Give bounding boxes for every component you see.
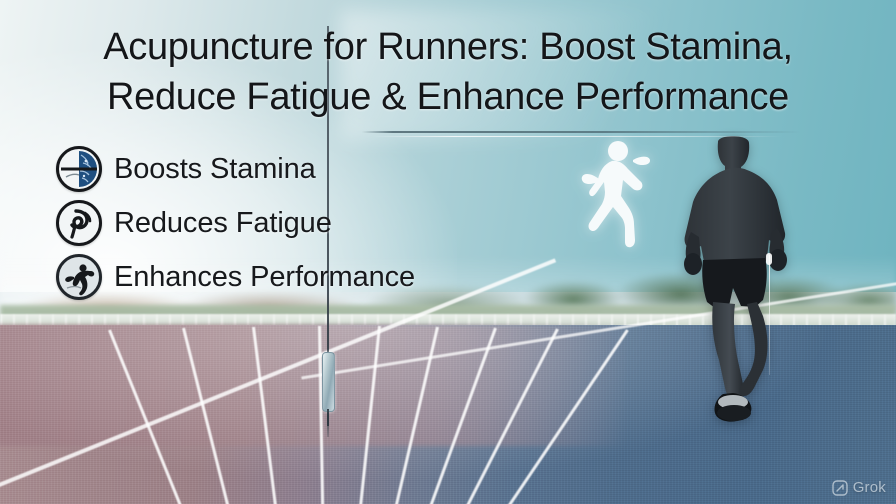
- list-item: Reduces Fatigue: [56, 197, 415, 249]
- list-item: Enhances Performance: [56, 251, 415, 303]
- headline-line-1: Acupuncture for Runners: Boost Stamina,: [0, 22, 896, 72]
- benefit-label: Reduces Fatigue: [114, 207, 332, 239]
- page-title: Acupuncture for Runners: Boost Stamina, …: [0, 22, 896, 122]
- benefit-label: Boosts Stamina: [114, 153, 316, 185]
- acupuncture-needle-tip: [327, 409, 329, 437]
- accent-divider-highlight: [372, 136, 782, 137]
- running-athlete-silhouette: [655, 136, 815, 432]
- watermark: Grok: [832, 479, 886, 496]
- benefits-list: Boosts Stamina Reduces Fatigue: [56, 143, 415, 305]
- benefit-label: Enhances Performance: [114, 261, 415, 293]
- poster-image: Acupuncture for Runners: Boost Stamina, …: [0, 0, 896, 504]
- headline-line-2: Reduce Fatigue & Enhance Performance: [0, 72, 896, 122]
- list-item: Boosts Stamina: [56, 143, 415, 195]
- white-runner-pictogram-icon: [578, 138, 652, 250]
- acupuncture-point-badge-icon: [56, 146, 102, 192]
- secondary-needle: [769, 255, 770, 375]
- grok-logo-icon: [832, 480, 848, 496]
- runner-glyph-badge-icon: [56, 254, 102, 300]
- acupuncture-needle-handle: [322, 352, 335, 412]
- accent-divider: [362, 131, 800, 133]
- watermark-label: Grok: [853, 479, 886, 496]
- secondary-needle-cap: [766, 253, 772, 265]
- needle-spiral-badge-icon: [56, 200, 102, 246]
